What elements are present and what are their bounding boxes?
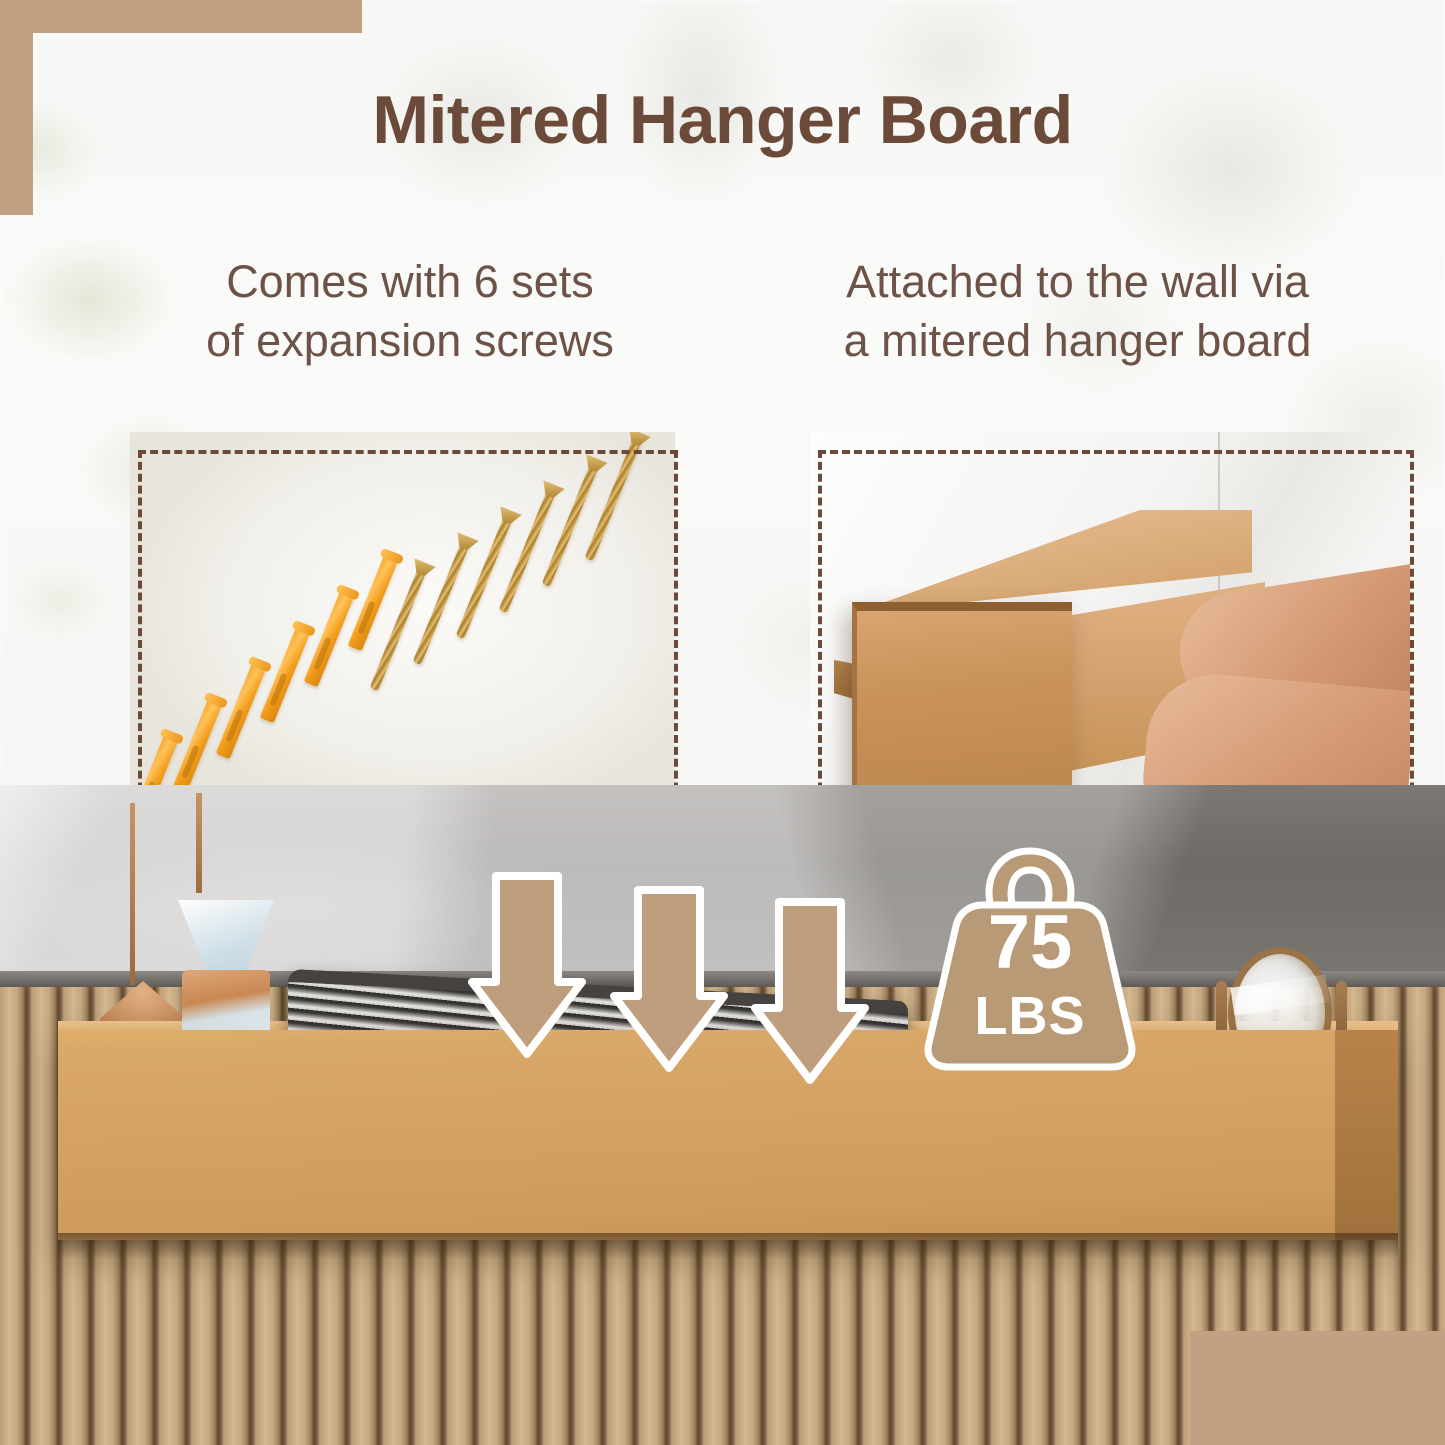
- corner-bracket-top: [0, 0, 362, 33]
- infographic-canvas: Mitered Hanger Board Comes with 6 sets o…: [0, 0, 1445, 1445]
- pendant-rod-1: [130, 803, 135, 985]
- weight-unit: LBS: [905, 989, 1155, 1043]
- page-title: Mitered Hanger Board: [0, 86, 1445, 154]
- weight-capacity-badge: 75 LBS: [905, 843, 1155, 1073]
- dashed-frame-right: [818, 450, 1414, 838]
- weight-value: 75: [905, 905, 1155, 981]
- caption-left-line1: Comes with 6 sets: [110, 252, 710, 311]
- caption-right-line2: a mitered hanger board: [745, 311, 1410, 370]
- shelf-drop-shadow: [58, 1233, 1398, 1259]
- pendant-rod-2: [196, 793, 202, 893]
- load-arrow-2: [610, 886, 728, 1076]
- floating-shelf: [58, 1030, 1398, 1240]
- caption-left-line2: of expansion screws: [110, 311, 710, 370]
- load-arrow-3: [751, 898, 869, 1088]
- dashed-frame-left: [138, 450, 678, 838]
- load-arrow-1: [468, 872, 586, 1062]
- corner-block-bottom-right: [1190, 1331, 1445, 1445]
- floating-shelf-end: [1335, 1030, 1398, 1240]
- caption-right-line1: Attached to the wall via: [745, 252, 1410, 311]
- caption-right: Attached to the wall via a mitered hange…: [745, 252, 1410, 371]
- caption-left: Comes with 6 sets of expansion screws: [110, 252, 710, 371]
